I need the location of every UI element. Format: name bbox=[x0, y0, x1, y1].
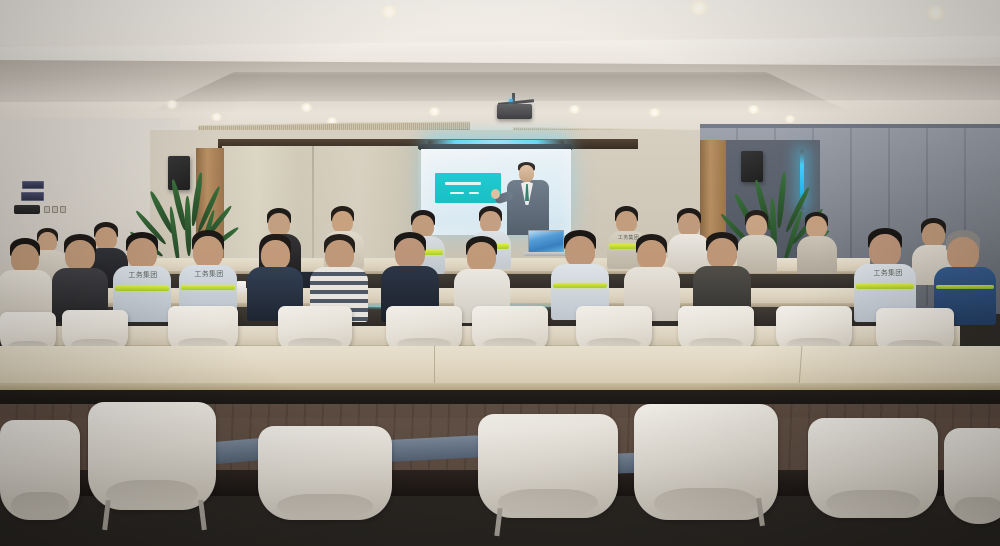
uniform-back-text: 工务集团 bbox=[188, 272, 230, 277]
attendee-head bbox=[746, 215, 767, 237]
attendee-head bbox=[38, 232, 57, 252]
wall-control-panel[interactable] bbox=[14, 205, 40, 214]
projector-power-led-icon bbox=[509, 99, 513, 102]
chair-back[interactable] bbox=[88, 402, 216, 510]
downlight-icon bbox=[165, 100, 179, 109]
attendee-head bbox=[467, 242, 496, 272]
uniform-back-text: 工务集团 bbox=[122, 273, 164, 278]
hivis-stripe bbox=[856, 284, 914, 289]
attendee-head bbox=[395, 238, 425, 269]
attendee-head bbox=[261, 240, 290, 270]
ceiling-projector[interactable] bbox=[497, 104, 532, 119]
wall-speaker bbox=[741, 151, 763, 182]
attendee-head bbox=[332, 211, 353, 233]
chair-back[interactable] bbox=[808, 418, 938, 518]
hivis-stripe bbox=[115, 286, 169, 291]
downlight-icon bbox=[784, 115, 796, 123]
chair-leg bbox=[198, 500, 207, 530]
table-seam bbox=[434, 346, 435, 386]
attendee-torso bbox=[797, 236, 837, 274]
slide-text-line bbox=[469, 192, 479, 194]
slide-text-panel bbox=[435, 173, 501, 203]
attendee-head bbox=[922, 223, 945, 247]
light-switch[interactable] bbox=[60, 206, 66, 213]
attendee-head bbox=[947, 237, 979, 270]
attendee-head bbox=[616, 211, 637, 233]
downlight-icon bbox=[300, 103, 313, 112]
conference-room-photo: 工务集团 bbox=[0, 0, 1000, 546]
attendee-head bbox=[806, 216, 827, 238]
light-switch[interactable] bbox=[52, 206, 58, 213]
laptop-base bbox=[524, 252, 568, 256]
downlight-icon bbox=[428, 107, 441, 116]
downlight-icon bbox=[648, 108, 661, 117]
chair-back[interactable] bbox=[258, 426, 392, 520]
slide-text-line bbox=[445, 182, 481, 185]
attendee-head bbox=[65, 240, 95, 271]
attendee-head bbox=[193, 236, 223, 268]
wall-plaque bbox=[21, 192, 44, 201]
foreground-table-top bbox=[0, 346, 1000, 386]
hivis-stripe bbox=[553, 283, 607, 288]
hivis-stripe bbox=[936, 285, 994, 289]
attendee-head bbox=[707, 238, 737, 269]
uniform-back-text: 工务集团 bbox=[866, 271, 910, 276]
open-laptop[interactable] bbox=[528, 230, 564, 252]
attendee-head bbox=[268, 213, 290, 236]
attendee-head bbox=[127, 238, 157, 269]
downlight-icon bbox=[925, 5, 947, 20]
hivis-stripe bbox=[181, 285, 235, 290]
downlight-icon bbox=[568, 105, 581, 114]
attendee-head bbox=[637, 240, 666, 270]
attendee-head bbox=[869, 234, 901, 267]
downlight-icon bbox=[210, 113, 223, 121]
chair-back[interactable] bbox=[0, 420, 80, 520]
light-switch[interactable] bbox=[44, 206, 50, 213]
paper-cup[interactable] bbox=[237, 281, 246, 293]
downlight-icon bbox=[747, 105, 760, 114]
attendee-head bbox=[11, 244, 39, 273]
chair-back[interactable] bbox=[478, 414, 618, 518]
attendee-head bbox=[480, 211, 501, 233]
wall-plaque bbox=[22, 181, 44, 189]
downlight-icon bbox=[688, 0, 710, 15]
slide-text-line bbox=[450, 192, 464, 194]
attendee-head bbox=[95, 227, 117, 250]
attendee-head bbox=[325, 240, 354, 270]
attendee-head bbox=[565, 236, 595, 267]
presenter-hand bbox=[491, 189, 500, 199]
attendee-head bbox=[678, 213, 700, 236]
chair-back[interactable] bbox=[944, 428, 1000, 524]
presenter-head bbox=[519, 165, 534, 182]
downlight-icon bbox=[380, 5, 398, 18]
